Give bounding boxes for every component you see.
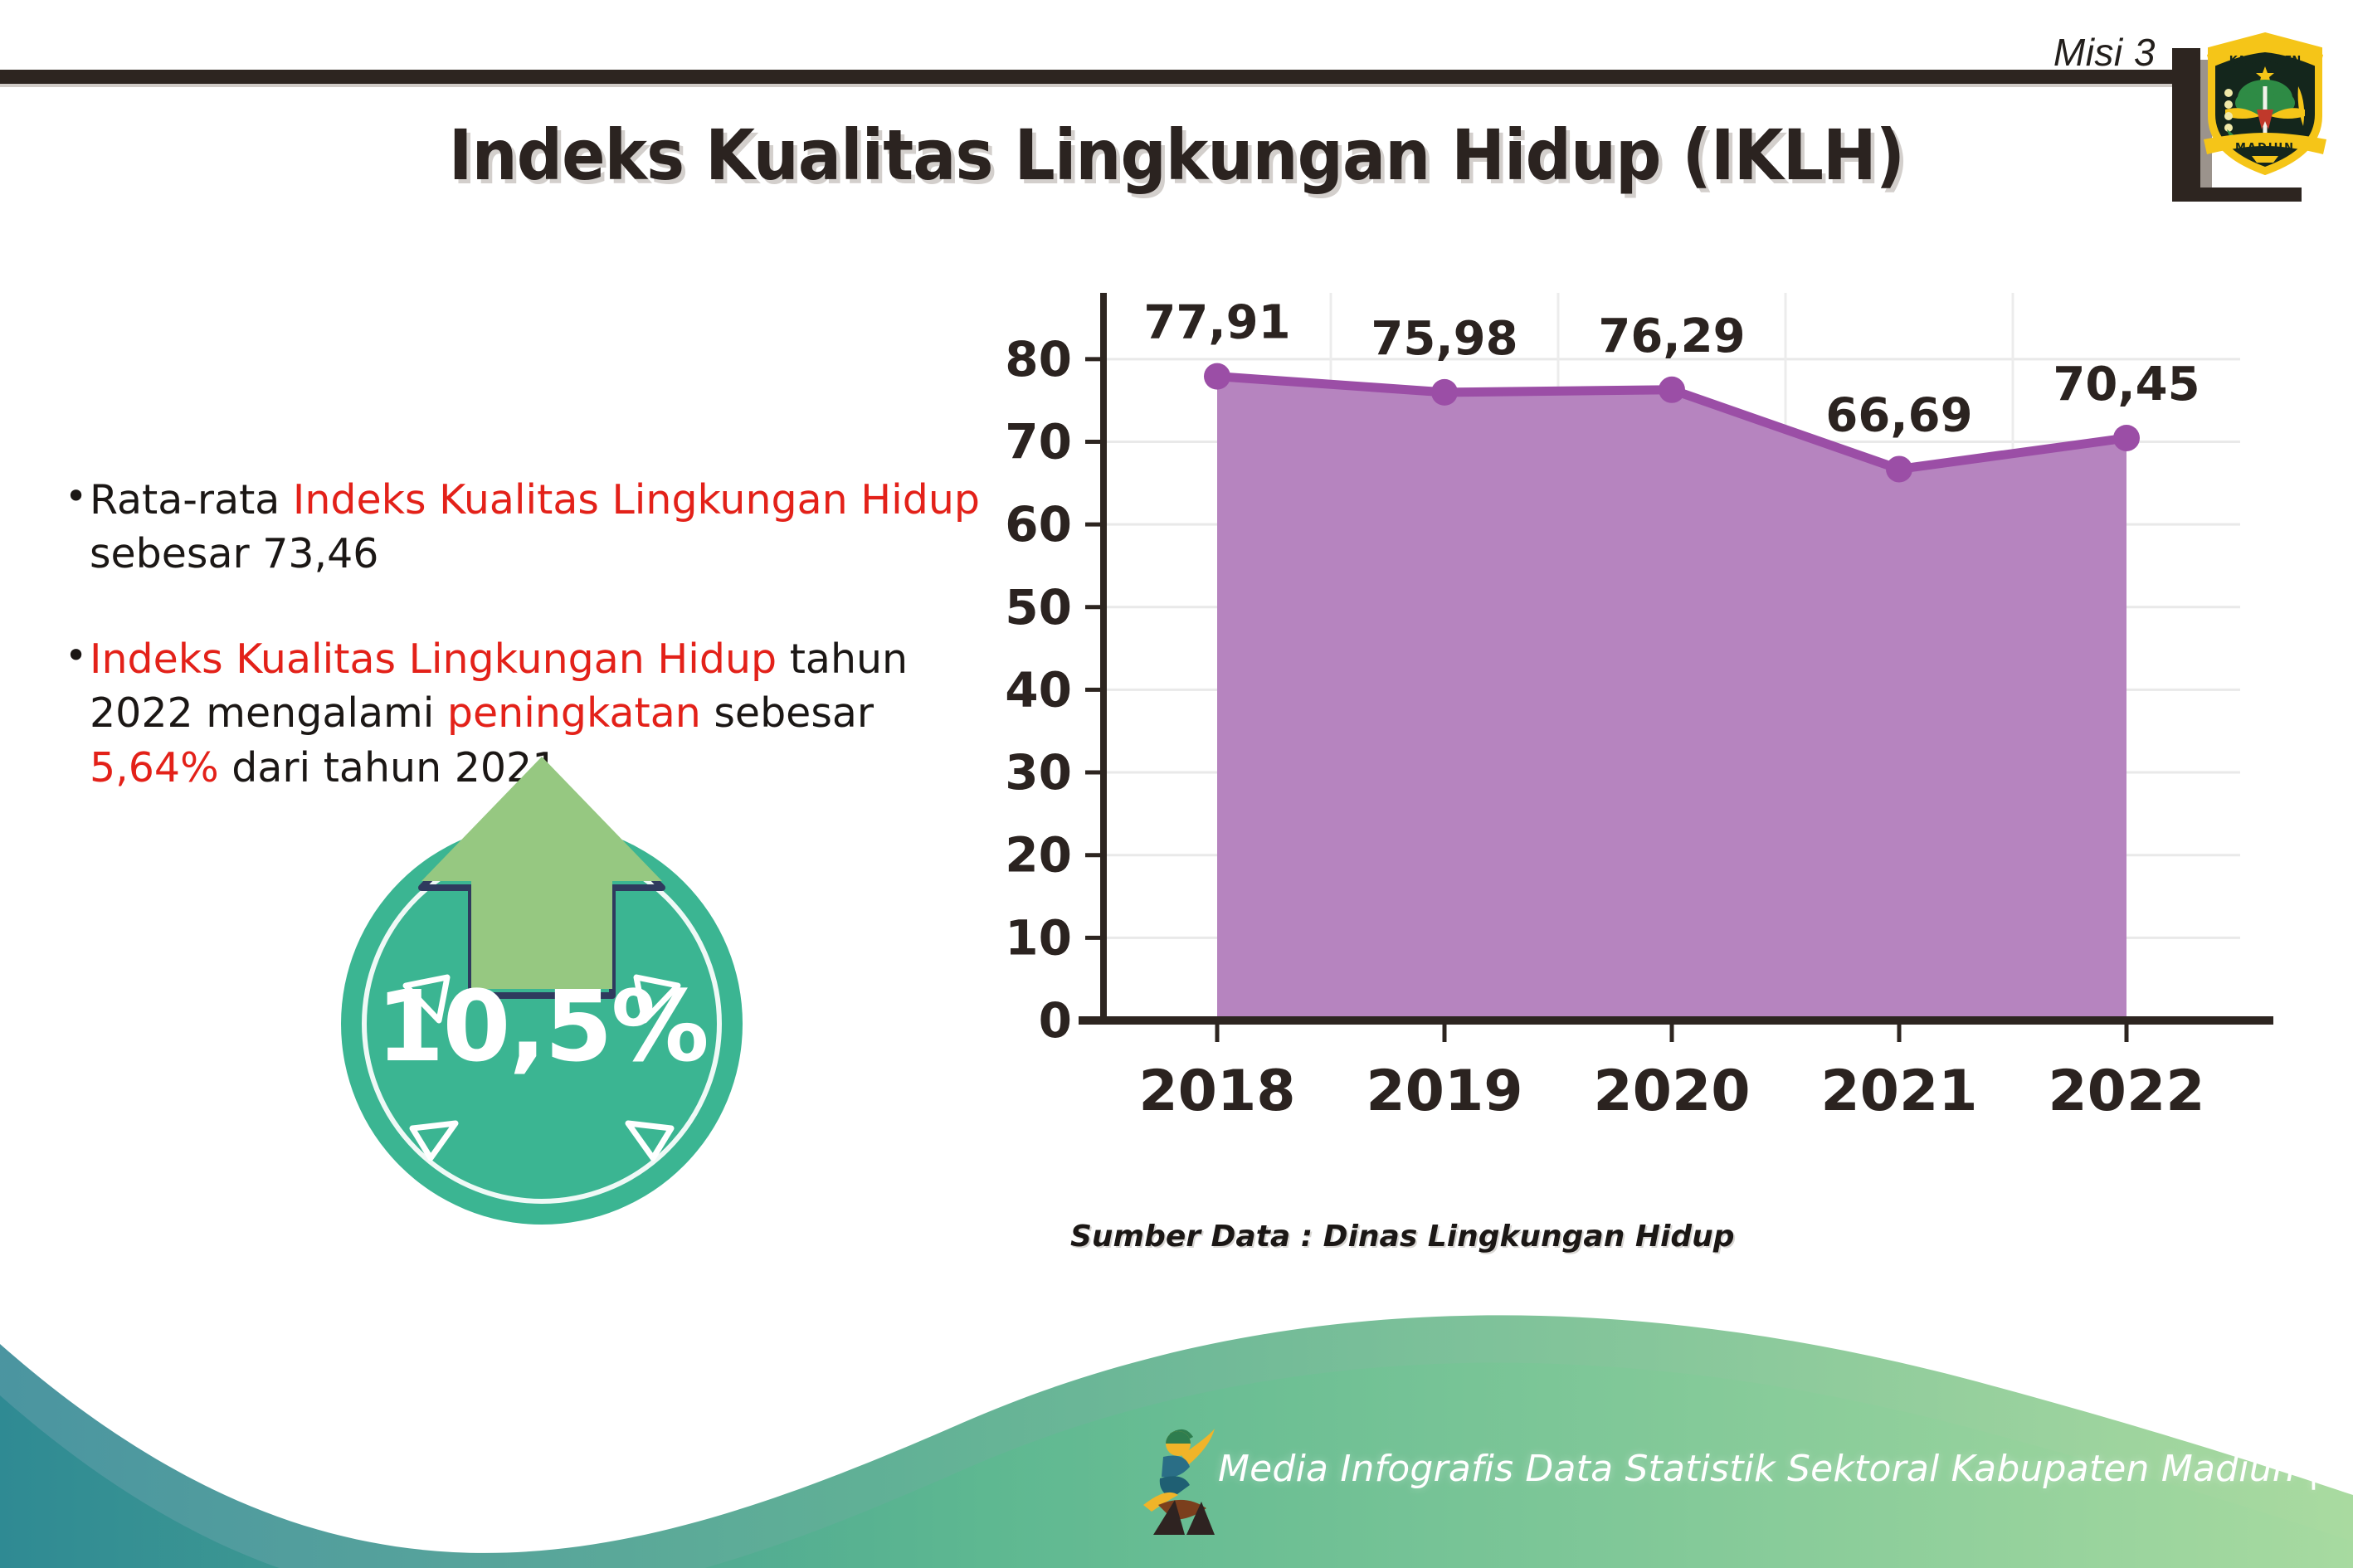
page-title: Indeks Kualitas Lingkungan Hidup (IKLH) xyxy=(94,114,2258,196)
bullet-2-text-1: Indeks Kualitas Lingkungan Hidup xyxy=(90,635,777,683)
badge-percentage: 10,5% xyxy=(341,969,743,1083)
bullet-2-text-3: peningkatan xyxy=(447,689,701,737)
y-tick-label: 80 xyxy=(1005,331,1072,387)
x-tick-label: 2018 xyxy=(1138,1059,1295,1124)
y-tick-label: 50 xyxy=(1005,579,1072,635)
chart-canvas: 77,9175,9876,2966,6970,45010203040506070… xyxy=(979,286,2273,1191)
bullet-2-text-4: sebesar xyxy=(701,689,874,737)
x-tick-label: 2020 xyxy=(1593,1059,1750,1124)
x-tick-label: 2022 xyxy=(2048,1059,2204,1124)
bullet-1-text-2: Indeks Kualitas Lingkungan Hidup xyxy=(293,476,980,523)
y-tick-label: 60 xyxy=(1005,496,1072,553)
data-point-marker xyxy=(1204,363,1230,390)
svg-text:KABUPATEN: KABUPATEN xyxy=(2229,55,2302,67)
y-tick-label: 0 xyxy=(1039,992,1072,1049)
bullet-1-text-3: sebesar 73,46 xyxy=(90,530,378,577)
y-tick-label: 40 xyxy=(1005,661,1072,718)
header-rule xyxy=(0,70,2172,84)
bullet-2-text-5: 5,64% xyxy=(90,744,219,791)
increase-badge: 10,5% xyxy=(320,747,782,1228)
data-label: 77,91 xyxy=(1143,296,1290,350)
bps-figure-logo-icon xyxy=(1138,1419,1230,1535)
footer-caption: Media Infografis Data Statistik Sektoral… xyxy=(1218,1448,2320,1490)
mission-label: Misi 3 xyxy=(2053,30,2156,75)
chart-source-note: Sumber Data : Dinas Lingkungan Hidup xyxy=(1070,1220,1735,1254)
series-area xyxy=(1217,377,2126,1020)
data-label: 76,29 xyxy=(1598,309,1745,363)
y-tick-label: 10 xyxy=(1005,909,1072,966)
data-point-marker xyxy=(1886,455,1912,482)
infographic-slide: Misi 3 KABUPATEN MADIUN Inde xyxy=(0,0,2353,1568)
list-item: Rata-rata Indeks Kualitas Lingkungan Hid… xyxy=(65,473,1002,581)
x-tick-label: 2021 xyxy=(1820,1059,1977,1124)
data-label: 70,45 xyxy=(2053,358,2200,411)
y-tick-label: 20 xyxy=(1005,827,1072,884)
iklh-area-chart: 77,9175,9876,2966,6970,45010203040506070… xyxy=(979,286,2273,1191)
data-point-marker xyxy=(1659,377,1685,403)
data-point-marker xyxy=(1431,379,1458,406)
data-label: 66,69 xyxy=(1825,388,1972,442)
data-point-marker xyxy=(2113,425,2140,451)
bullet-1-text-1: Rata-rata xyxy=(90,476,293,523)
y-tick-label: 30 xyxy=(1005,744,1072,801)
x-tick-label: 2019 xyxy=(1366,1059,1522,1124)
y-tick-label: 70 xyxy=(1005,413,1072,470)
data-label: 75,98 xyxy=(1371,312,1518,366)
